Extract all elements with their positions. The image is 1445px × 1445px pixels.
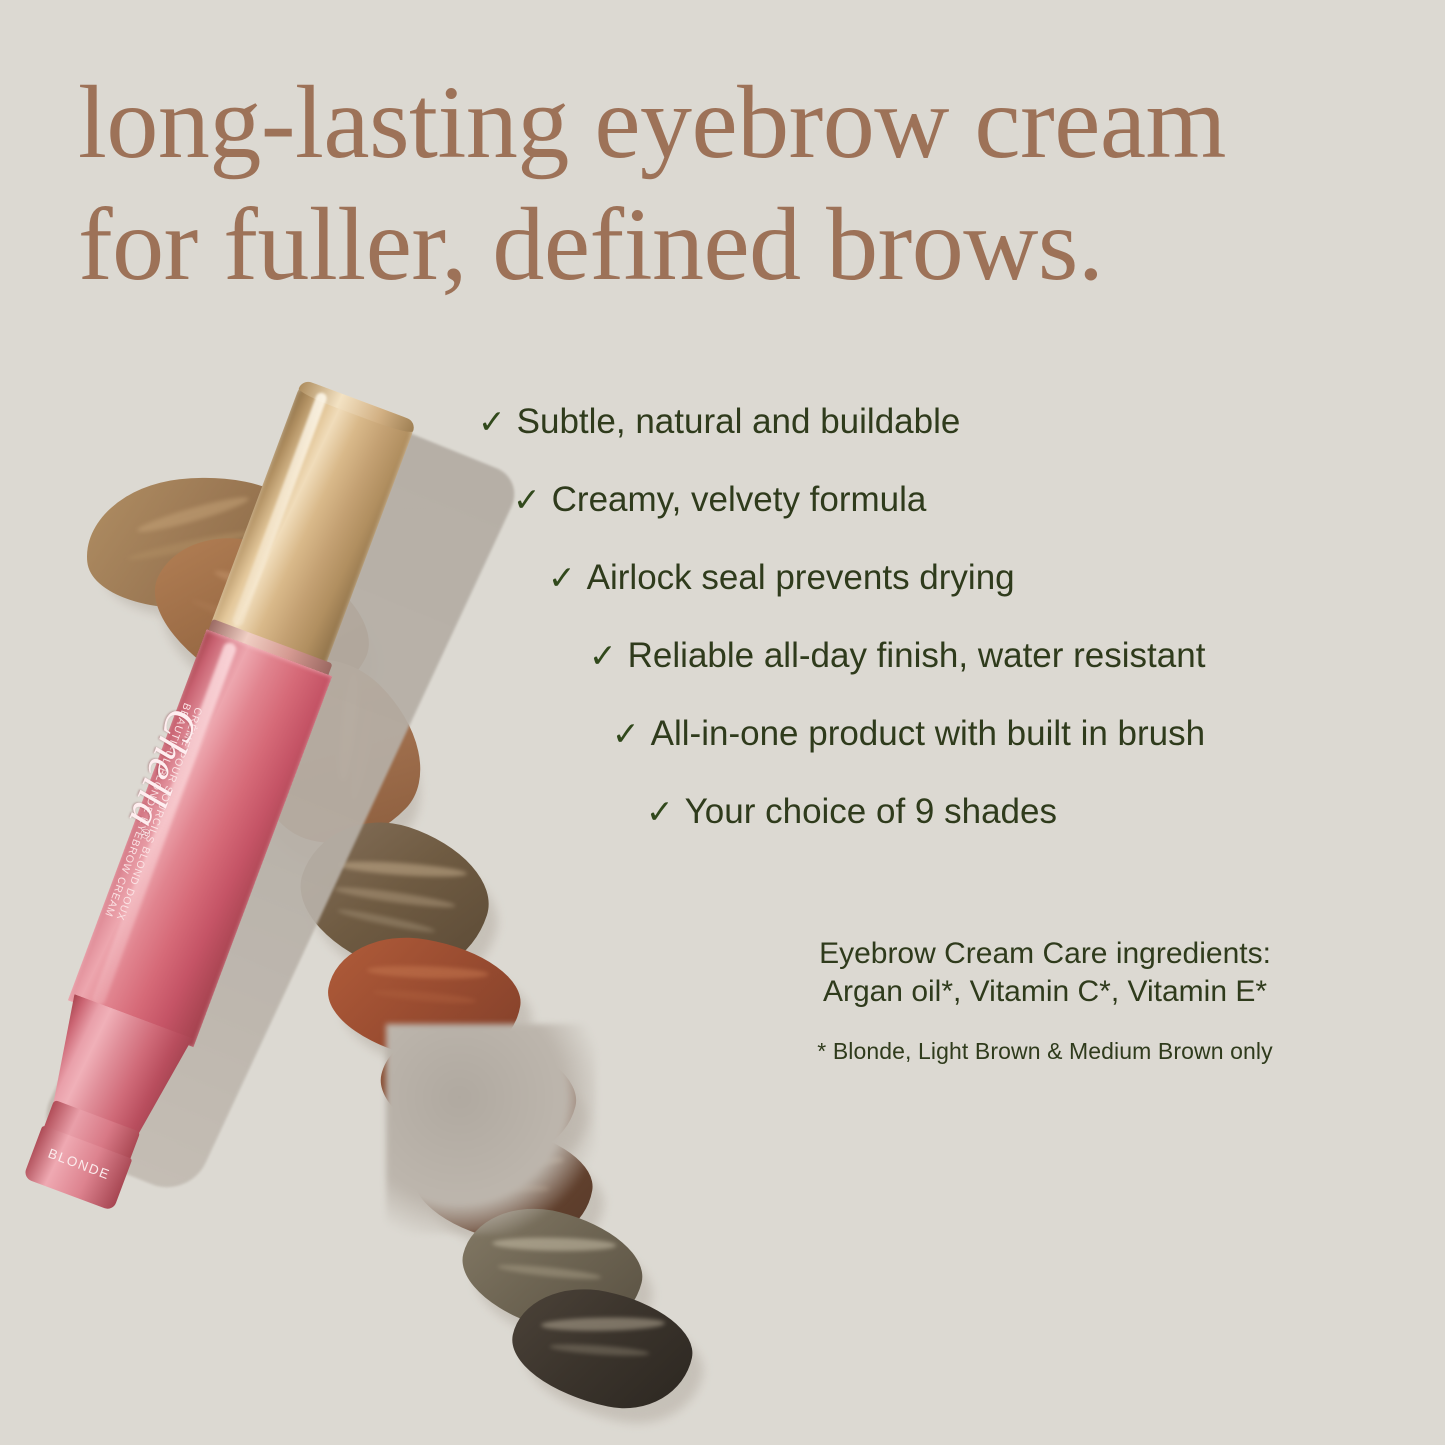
feature-label-4: Reliable all-day finish, water resistant (628, 638, 1206, 673)
swatch-dark-espresso (502, 1275, 701, 1422)
feature-label-1: Subtle, natural and buildable (517, 404, 961, 439)
check-icon: ✓ (612, 717, 640, 750)
feature-label-5: All-in-one product with built in brush (651, 716, 1205, 751)
ingredients-block: Eyebrow Cream Care ingredients: Argan oi… (745, 935, 1345, 1065)
feature-list: ✓ Subtle, natural and buildable ✓ Creamy… (0, 404, 1445, 872)
check-icon: ✓ (478, 405, 506, 438)
feature-item-2: ✓ Creamy, velvety formula (0, 482, 1445, 517)
feature-label-6: Your choice of 9 shades (685, 794, 1057, 829)
ingredients-footnote: * Blonde, Light Brown & Medium Brown onl… (745, 1038, 1345, 1065)
check-icon: ✓ (646, 795, 674, 828)
feature-item-3: ✓ Airlock seal prevents drying (0, 560, 1445, 595)
check-icon: ✓ (513, 483, 541, 516)
feature-label-2: Creamy, velvety formula (552, 482, 927, 517)
ingredients-heading: Eyebrow Cream Care ingredients: (745, 935, 1345, 973)
feature-item-4: ✓ Reliable all-day finish, water resista… (0, 638, 1445, 673)
product-ground-shadow (386, 1024, 596, 1234)
feature-label-3: Airlock seal prevents drying (587, 560, 1015, 595)
feature-item-6: ✓ Your choice of 9 shades (0, 794, 1445, 829)
check-icon: ✓ (548, 561, 576, 594)
feature-item-1: ✓ Subtle, natural and buildable (0, 404, 1445, 439)
marketing-image: long-lasting eyebrow cream for fuller, d… (0, 0, 1445, 1445)
feature-item-5: ✓ All-in-one product with built in brush (0, 716, 1445, 751)
check-icon: ✓ (589, 639, 617, 672)
ingredients-list: Argan oil*, Vitamin C*, Vitamin E* (745, 973, 1345, 1011)
